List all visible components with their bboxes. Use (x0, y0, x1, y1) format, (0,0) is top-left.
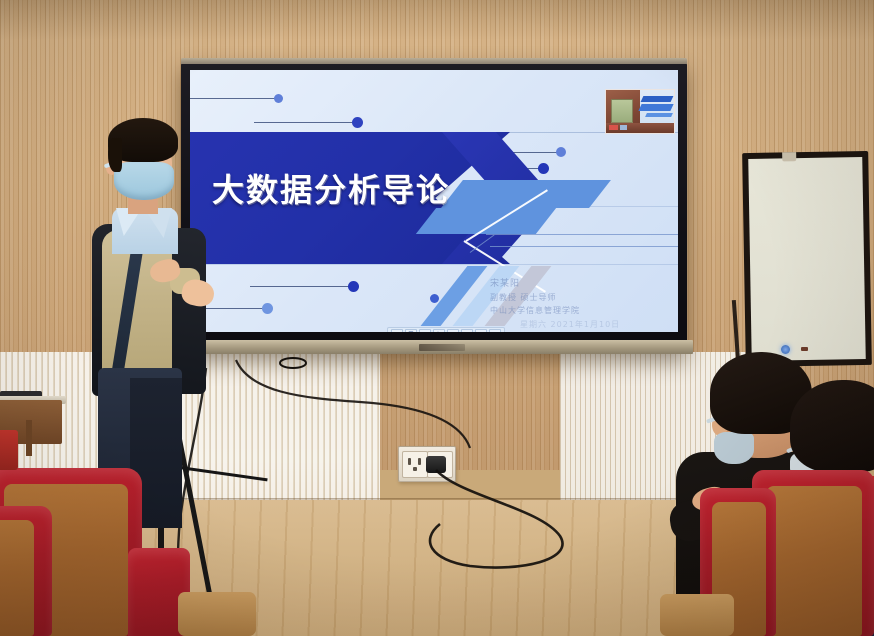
camera-preview-chip-1 (609, 125, 618, 130)
presenter (78, 112, 218, 512)
slide-presenter-affiliation: 中山大学信息管理学院 (490, 304, 580, 317)
display-screen[interactable]: 大数据分析导论 宋某阳 副教授 硕士导师 中山大学信息管理学院 星期六 2021… (190, 70, 678, 332)
menu-icon[interactable]: ☰ (405, 329, 417, 333)
camera-preview-chip-2 (620, 125, 627, 130)
chair-right-1-pad (766, 486, 862, 636)
slide-date-line: 星期六 2021年1月10日 (520, 319, 620, 330)
slide-presenter-credits: 宋某阳 副教授 硕士导师 中山大学信息管理学院 (490, 278, 580, 317)
lecture-hall-scene: 大数据分析导论 宋某阳 副教授 硕士导师 中山大学信息管理学院 星期六 2021… (0, 0, 874, 636)
side-desk-red-object (0, 430, 18, 470)
slide-presenter-titles: 副教授 硕士导师 (490, 291, 580, 304)
chair-left-armrest[interactable] (178, 592, 256, 636)
slide-connector-5 (250, 286, 350, 287)
socket-slot-1 (408, 458, 411, 465)
flat-panel-display[interactable]: 大数据分析导论 宋某阳 副教授 硕士导师 中山大学信息管理学院 星期六 2021… (181, 62, 687, 354)
flipchart-easel (742, 151, 872, 367)
slide-stroke-horizontal-2 (490, 246, 678, 247)
presenter-face-mask (114, 162, 174, 200)
eraser-icon[interactable]: ◇ (447, 329, 459, 333)
slide-accent-dot-5 (430, 294, 439, 303)
presenter-hair-side (108, 138, 122, 172)
camera-preview-shape-2 (638, 104, 673, 111)
flipchart-sheet (748, 157, 866, 361)
slide-connector-1 (190, 98, 276, 99)
slide-accent-dot-3 (556, 147, 566, 157)
slide-accent-dot-4 (538, 163, 549, 174)
lasso-icon[interactable]: ◌ (461, 329, 473, 333)
camera-preview-shape-1 (641, 96, 674, 102)
flipchart-clip (782, 152, 796, 161)
camera-preview-overlay[interactable] (605, 89, 675, 134)
socket-slot-3 (413, 467, 417, 471)
camera-preview-card-object (611, 99, 633, 123)
annotation-toolbar[interactable]: ↺ ☰ ➤ ✎ ◇ ◌ ▢ ▾ (387, 327, 505, 332)
audience-1-face-mask (714, 432, 754, 464)
shape-icon[interactable]: ▢ (475, 329, 487, 333)
slide-accent-dot-2 (352, 117, 363, 128)
slide-stroke-horizontal-1 (486, 234, 678, 235)
more-icon[interactable]: ▾ (489, 329, 501, 333)
socket-outlet-left[interactable] (402, 451, 428, 478)
side-desk-leg (26, 420, 32, 456)
slide-title: 大数据分析导论 (212, 165, 450, 211)
slide-accent-dot-6 (348, 281, 359, 292)
slide-connector-2 (254, 122, 356, 123)
undo-icon[interactable]: ↺ (391, 329, 403, 333)
slide-accent-dot-1 (274, 94, 283, 103)
power-plug[interactable] (426, 456, 446, 473)
audience-2-hair (790, 380, 874, 472)
slide-presenter-name: 宋某阳 (490, 278, 580, 291)
camera-preview-shape-3 (645, 113, 673, 117)
slide-accent-band-2 (416, 208, 556, 234)
display-brand-logo (419, 344, 465, 351)
cursor-icon[interactable]: ➤ (419, 329, 431, 333)
wall-top-shadow (0, 0, 874, 40)
pen-icon[interactable]: ✎ (433, 329, 445, 333)
display-ir-receiver (801, 347, 808, 351)
slide-guide-line-2 (190, 264, 678, 265)
chair-right-armrest[interactable] (660, 594, 734, 636)
chair-left-2-pad (0, 520, 34, 636)
slide-accent-dot-7 (262, 303, 273, 314)
socket-slot-2 (418, 458, 421, 465)
presentation-slide: 大数据分析导论 宋某阳 副教授 硕士导师 中山大学信息管理学院 星期六 2021… (190, 70, 678, 332)
